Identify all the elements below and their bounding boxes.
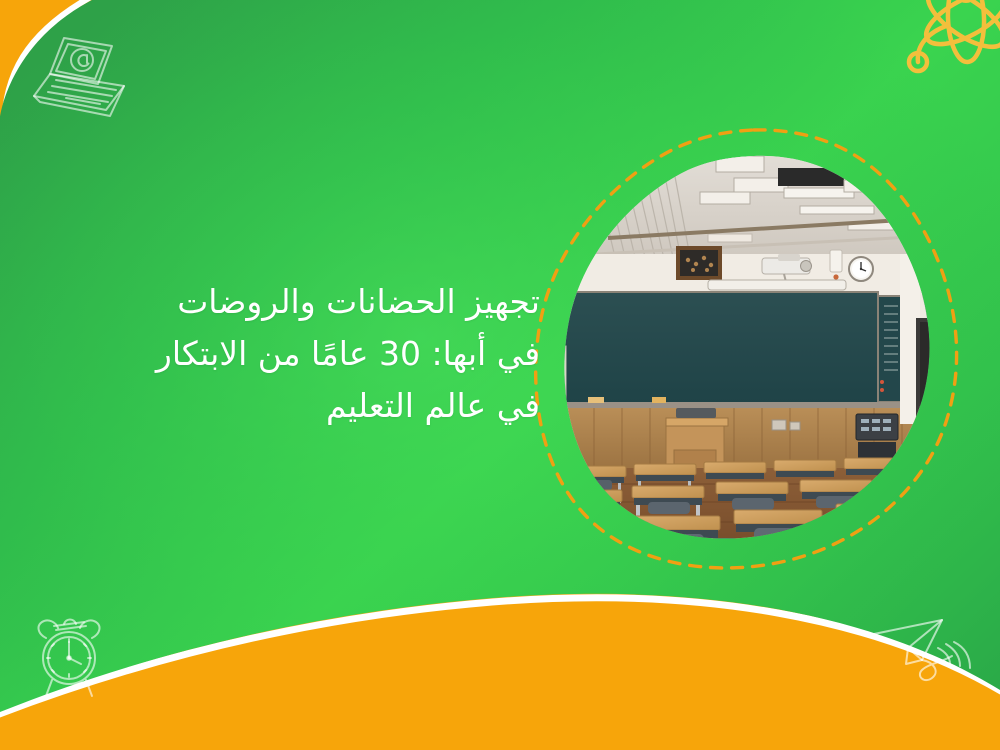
classroom-photo bbox=[548, 150, 968, 570]
headline: تجهيز الحضانات والروضات في أبها: 30 عامً… bbox=[40, 276, 540, 432]
photo-desks bbox=[528, 458, 944, 578]
photo-wall-clock bbox=[849, 257, 873, 281]
photo-blackboard bbox=[542, 292, 938, 408]
banner-canvas: تجهيز الحضانات والروضات في أبها: 30 عامً… bbox=[0, 0, 1000, 750]
headline-line-1: تجهيز الحضانات والروضات bbox=[40, 276, 540, 328]
headline-line-2: في أبها: 30 عامًا من الابتكار bbox=[40, 328, 540, 380]
headline-line-3: في عالم التعليم bbox=[40, 380, 540, 432]
photo-framed-picture bbox=[676, 246, 722, 280]
